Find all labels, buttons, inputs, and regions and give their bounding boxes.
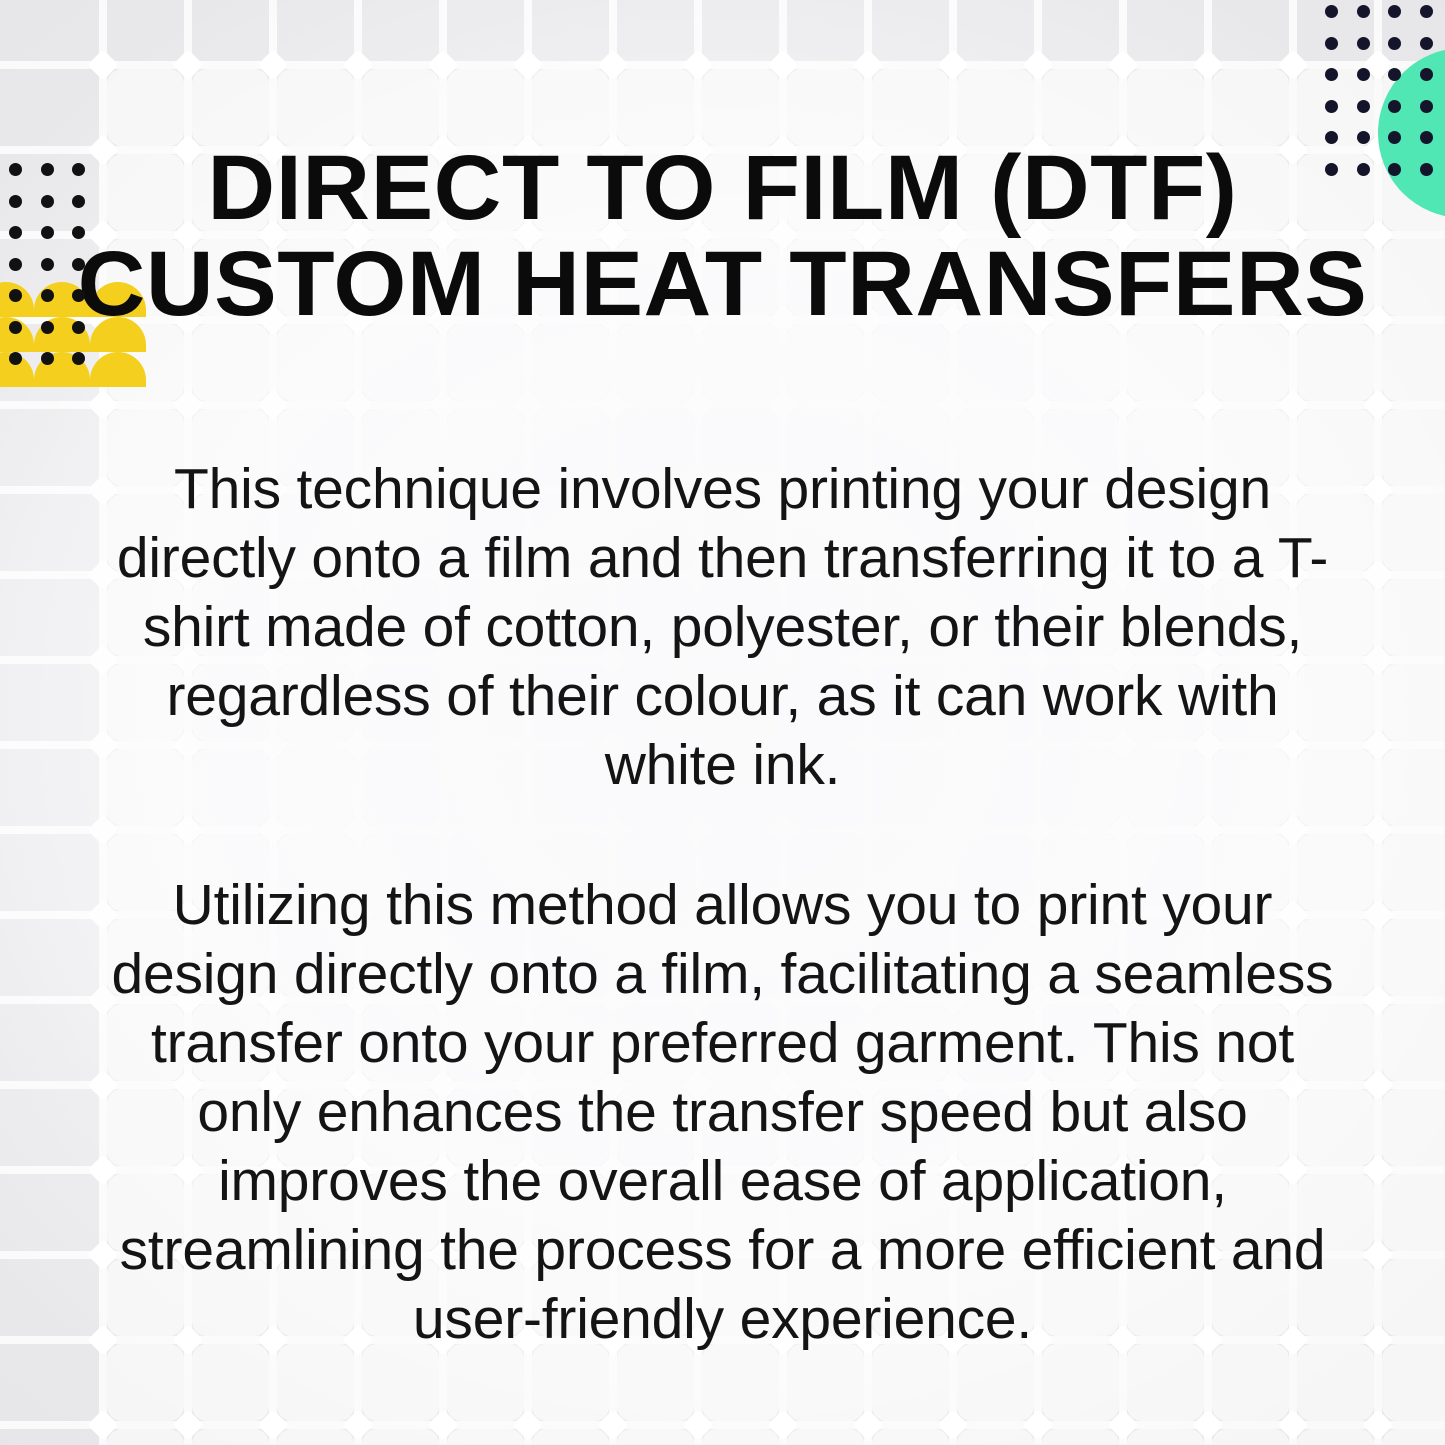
decor-dot xyxy=(1420,131,1433,144)
body-text: This technique involves printing your de… xyxy=(95,455,1350,1354)
decor-dot xyxy=(1420,68,1433,81)
decor-dot xyxy=(1388,5,1401,18)
decor-dot xyxy=(1325,68,1338,81)
decor-dot xyxy=(72,352,85,365)
decor-dot xyxy=(1420,37,1433,50)
decor-dot xyxy=(41,195,54,208)
decor-dot xyxy=(9,258,22,271)
decor-dot xyxy=(1357,5,1370,18)
decor-dot xyxy=(1388,163,1401,176)
page-title-line-1: DIRECT TO FILM (DTF) xyxy=(77,140,1367,236)
decor-dot xyxy=(41,226,54,239)
decor-dot xyxy=(72,258,85,271)
decor-dot xyxy=(9,163,22,176)
decor-dot xyxy=(1388,37,1401,50)
decor-dot xyxy=(41,258,54,271)
decor-dot xyxy=(41,352,54,365)
decor-dot xyxy=(72,321,85,334)
decor-dot xyxy=(1325,163,1338,176)
decor-dot xyxy=(41,321,54,334)
decor-dot xyxy=(9,226,22,239)
decor-dot xyxy=(9,195,22,208)
decor-dot xyxy=(72,289,85,302)
decor-dot xyxy=(72,195,85,208)
slide-content: DIRECT TO FILM (DTF) CUSTOM HEAT TRANSFE… xyxy=(0,0,1445,1445)
decor-dot xyxy=(1388,131,1401,144)
decor-dot xyxy=(41,289,54,302)
decor-dot xyxy=(1420,5,1433,18)
decor-dot xyxy=(1357,163,1370,176)
decor-dot xyxy=(1325,131,1338,144)
body-paragraph-1: This technique involves printing your de… xyxy=(95,455,1350,800)
decor-dot xyxy=(1420,100,1433,113)
decor-dot xyxy=(9,321,22,334)
decor-dot xyxy=(41,163,54,176)
decor-dot xyxy=(1325,5,1338,18)
decor-dot xyxy=(72,163,85,176)
decor-dot xyxy=(9,352,22,365)
decor-dot xyxy=(1420,163,1433,176)
decor-dot xyxy=(1357,37,1370,50)
decor-dot xyxy=(1325,37,1338,50)
decor-dot xyxy=(1357,68,1370,81)
decor-dot xyxy=(9,289,22,302)
decor-dot xyxy=(1357,131,1370,144)
body-paragraph-2: Utilizing this method allows you to prin… xyxy=(95,871,1350,1354)
decor-dot xyxy=(1325,100,1338,113)
page-title-line-2: CUSTOM HEAT TRANSFERS xyxy=(77,236,1367,332)
decor-dot xyxy=(1388,100,1401,113)
decor-dot xyxy=(1388,68,1401,81)
decor-dot xyxy=(1357,100,1370,113)
page-title: DIRECT TO FILM (DTF) CUSTOM HEAT TRANSFE… xyxy=(77,140,1367,332)
slide-canvas: DIRECT TO FILM (DTF) CUSTOM HEAT TRANSFE… xyxy=(0,0,1445,1445)
decor-dot xyxy=(72,226,85,239)
